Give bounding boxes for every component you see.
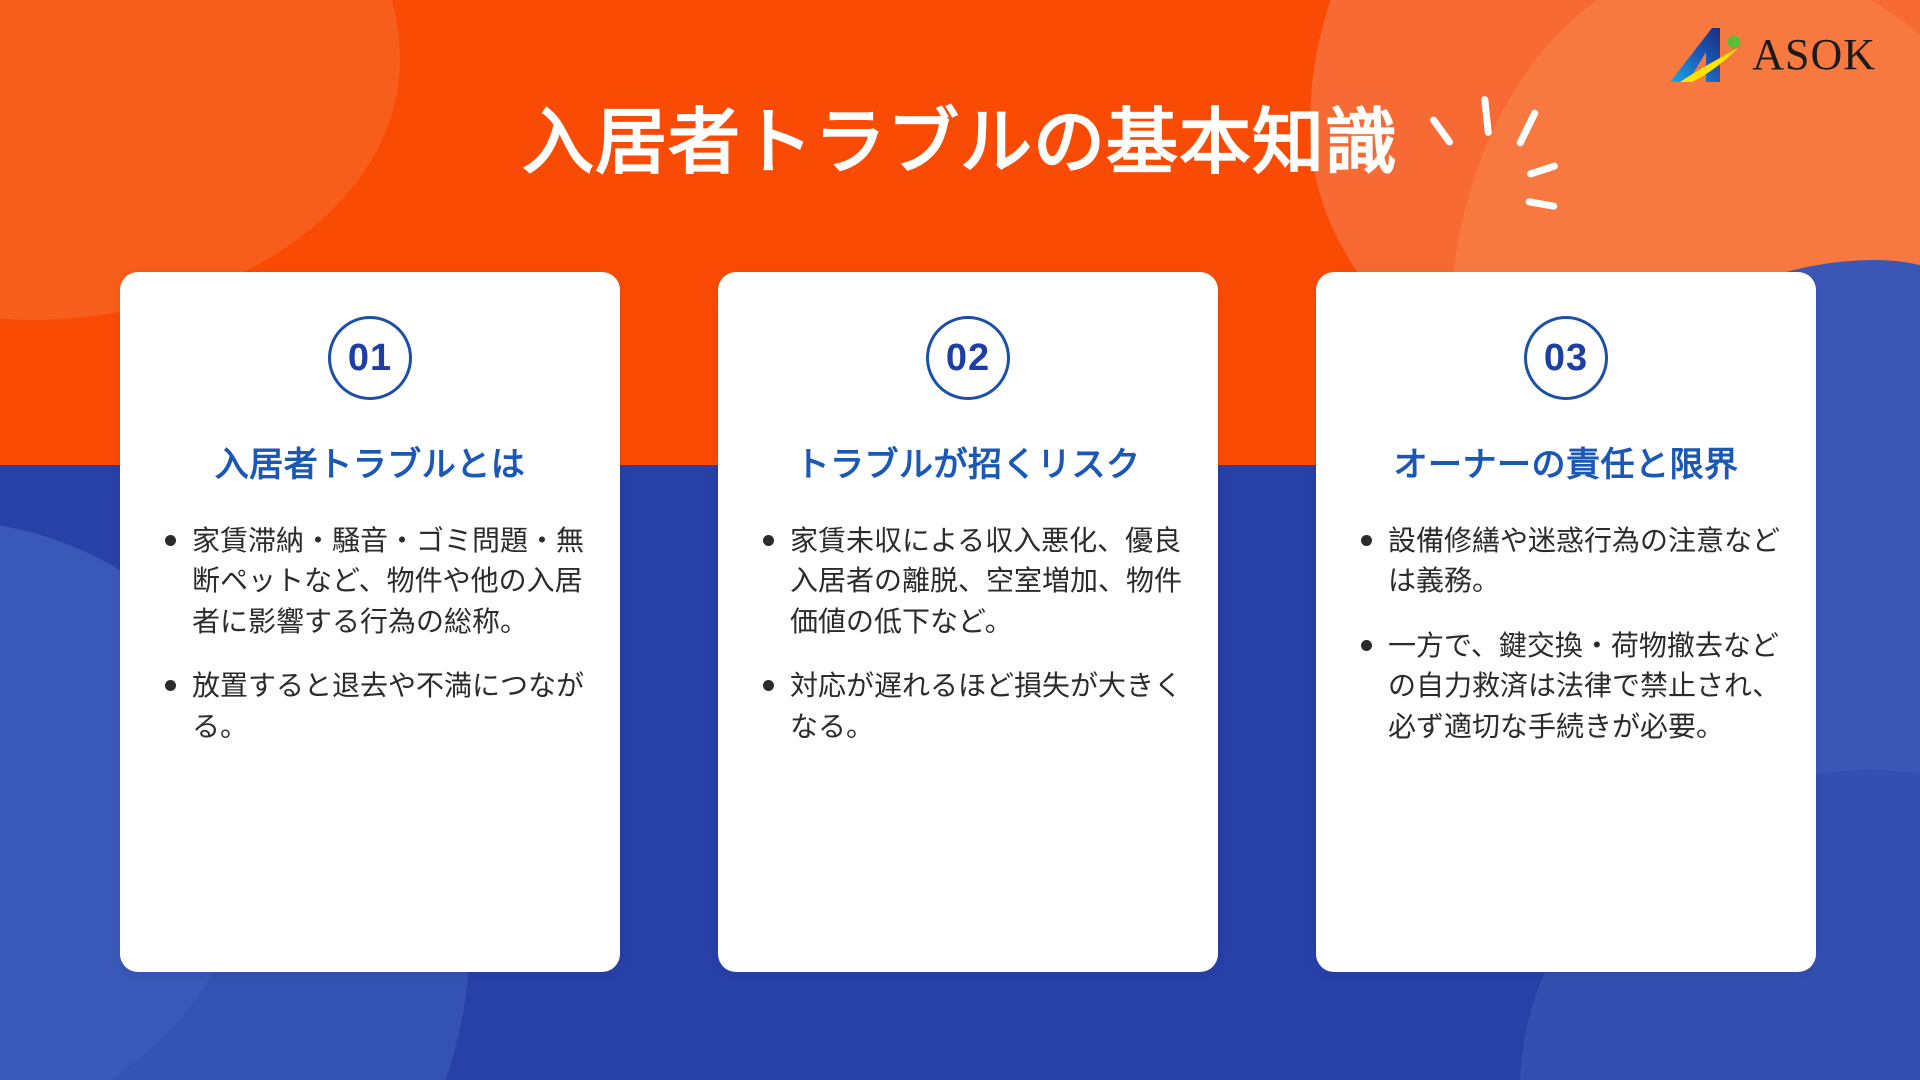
card-bullet-list: 設備修繕や迷惑行為の注意などは義務。 一方で、鍵交換・荷物撤去などの自力救済は法… [1346,521,1786,772]
card-bullet-list: 家賃滞納・騒音・ゴミ問題・無断ペットなど、物件や他の入居者に影響する行為の総称。… [150,521,590,772]
info-card-01: 01 入居者トラブルとは 家賃滞納・騒音・ゴミ問題・無断ペットなど、物件や他の入… [120,272,620,972]
list-item: 放置すると退去や不満につながる。 [156,666,590,747]
card-number-badge: 01 [328,316,412,400]
list-item: 設備修繕や迷惑行為の注意などは義務。 [1352,521,1786,602]
card-title: トラブルが招くリスク [796,444,1141,487]
asok-logo-mark-icon [1668,26,1742,88]
slide-canvas: ASOK 入居者トラブルの基本知識 01 入居者トラブルとは 家賃滞納・騒音・ゴ… [0,0,1920,1080]
page-title: 入居者トラブルの基本知識 [0,102,1920,185]
list-item: 対応が遅れるほど損失が大きくなる。 [754,666,1188,747]
brand-wordmark: ASOK [1752,33,1876,81]
sparkle-burst-icon [1410,62,1570,222]
card-row: 01 入居者トラブルとは 家賃滞納・騒音・ゴミ問題・無断ペットなど、物件や他の入… [120,272,1816,972]
info-card-03: 03 オーナーの責任と限界 設備修繕や迷惑行為の注意などは義務。 一方で、鍵交換… [1316,272,1816,972]
card-title: 入居者トラブルとは [215,444,526,487]
list-item: 家賃滞納・騒音・ゴミ問題・無断ペットなど、物件や他の入居者に影響する行為の総称。 [156,521,590,643]
card-title: オーナーの責任と限界 [1394,444,1739,487]
brand-logo: ASOK [1668,26,1876,88]
card-number-badge: 02 [926,316,1010,400]
card-number-badge: 03 [1524,316,1608,400]
card-bullet-list: 家賃未収による収入悪化、優良入居者の離脱、空室増加、物件価値の低下など。 対応が… [748,521,1188,772]
list-item: 一方で、鍵交換・荷物撤去などの自力救済は法律で禁止され、必ず適切な手続きが必要。 [1352,626,1786,748]
list-item: 家賃未収による収入悪化、優良入居者の離脱、空室増加、物件価値の低下など。 [754,521,1188,643]
info-card-02: 02 トラブルが招くリスク 家賃未収による収入悪化、優良入居者の離脱、空室増加、… [718,272,1218,972]
